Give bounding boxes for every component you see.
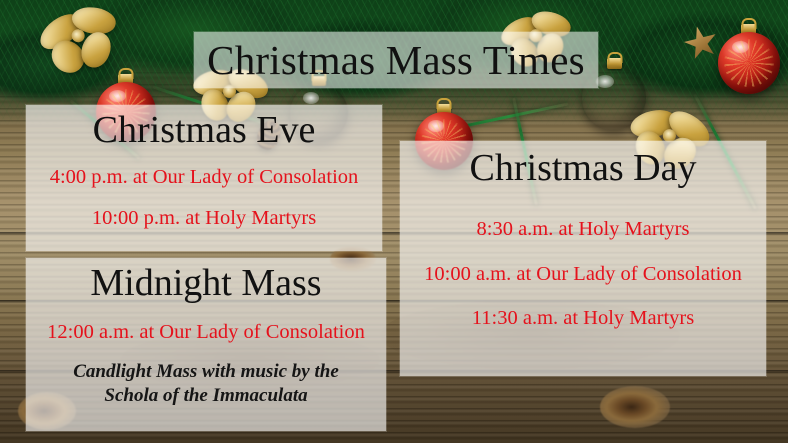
wood-knot <box>600 386 670 428</box>
christmas-eve-time-1: 4:00 p.m. at Our Lady of Consolation <box>50 165 359 191</box>
christmas-day-time-3: 11:30 a.m. at Holy Martyrs <box>472 306 694 332</box>
christmas-day-time-1: 8:30 a.m. at Holy Martyrs <box>477 217 690 243</box>
panel-christmas-day: Christmas Day 8:30 a.m. at Holy Martyrs … <box>400 141 766 376</box>
christmas-eve-time-2: 10:00 p.m. at Holy Martyrs <box>92 206 316 232</box>
poster-title-banner: Christmas Mass Times <box>194 32 598 88</box>
panel-midnight-mass: Midnight Mass 12:00 a.m. at Our Lady of … <box>26 258 386 431</box>
midnight-mass-note-line-2: Schola of the Immaculata <box>104 384 307 408</box>
ornament-highlight <box>596 75 614 88</box>
christmas-day-time-2: 10:00 a.m. at Our Lady of Consolation <box>424 262 742 288</box>
christmas-eve-heading: Christmas Eve <box>93 111 316 151</box>
ornament-pattern <box>724 39 774 86</box>
midnight-mass-note-line-1: Candlight Mass with music by the <box>73 360 339 384</box>
midnight-mass-heading: Midnight Mass <box>90 264 321 304</box>
panel-christmas-eve: Christmas Eve 4:00 p.m. at Our Lady of C… <box>26 105 382 251</box>
midnight-mass-time-1: 12:00 a.m. at Our Lady of Consolation <box>47 320 365 346</box>
christmas-mass-times-poster: Christmas Mass Times Christmas Eve 4:00 … <box>0 0 788 443</box>
ornament-highlight <box>303 92 319 104</box>
poster-title: Christmas Mass Times <box>207 40 585 81</box>
red-ornament <box>718 32 780 94</box>
christmas-day-heading: Christmas Day <box>470 149 697 189</box>
